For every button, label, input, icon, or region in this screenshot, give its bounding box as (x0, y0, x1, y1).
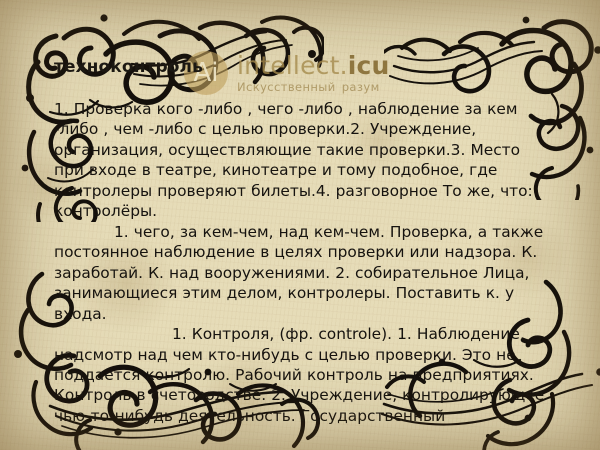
definition-paragraph-1: 1. Проверка кого -либо , чего -либо , на… (54, 99, 548, 222)
page-title: техноконтроль (54, 58, 548, 77)
slide-canvas: Ai intellect.icu Искусственный разум тех… (0, 0, 600, 450)
definition-paragraph-3: 1. Контроля, (фр. controle). 1. Наблюден… (54, 324, 548, 426)
definition-paragraph-2: 1. чего, за кем-чем, над кем-чем. Провер… (54, 222, 548, 324)
slide-content: техноконтроль 1. Проверка кого -либо , ч… (54, 58, 548, 426)
definition-body: 1. Проверка кого -либо , чего -либо , на… (54, 99, 548, 427)
